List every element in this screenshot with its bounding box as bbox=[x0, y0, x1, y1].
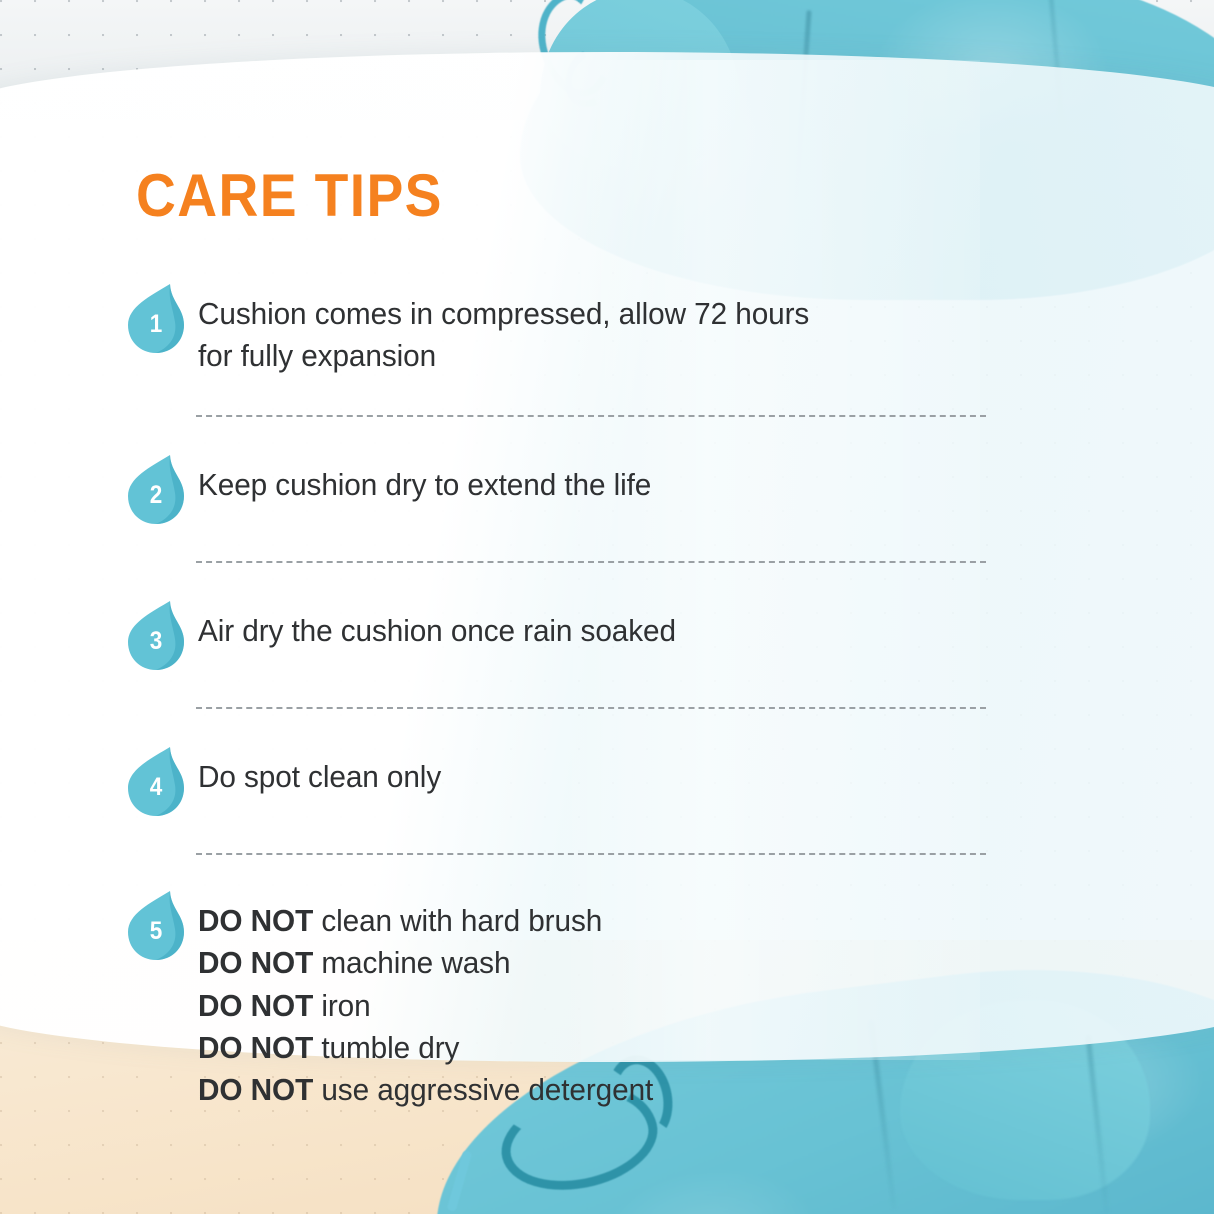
water-drop-icon: 2 bbox=[128, 453, 184, 525]
separator bbox=[196, 561, 986, 563]
tip-line: Keep cushion dry to extend the life bbox=[198, 467, 651, 502]
page-title: CARE TIPS bbox=[136, 166, 443, 226]
tip-number: 4 bbox=[131, 745, 181, 817]
care-tips-list: 1 Cushion comes in compressed, allow 72 … bbox=[128, 282, 1028, 1111]
tip-emphasis: DO NOT bbox=[198, 988, 313, 1023]
tip-line: Air dry the cushion once rain soaked bbox=[198, 613, 676, 648]
water-drop-icon: 5 bbox=[128, 889, 184, 961]
tip-text: DO NOT clean with hard brush DO NOT mach… bbox=[198, 889, 995, 1111]
tip-line: machine wash bbox=[313, 945, 510, 980]
tip-line: Cushion comes in compressed, allow 72 ho… bbox=[198, 296, 809, 331]
tip-number: 1 bbox=[131, 282, 181, 354]
tip-line: use aggressive detergent bbox=[313, 1072, 653, 1107]
tip-line: for fully expansion bbox=[198, 338, 436, 373]
list-item: 3 Air dry the cushion once rain soaked bbox=[128, 599, 1028, 671]
tip-emphasis: DO NOT bbox=[198, 1030, 313, 1065]
tip-line: clean with hard brush bbox=[313, 903, 602, 938]
list-item: 4 Do spot clean only bbox=[128, 745, 1028, 817]
tip-number: 2 bbox=[131, 453, 181, 525]
tip-line: tumble dry bbox=[313, 1030, 459, 1065]
tip-emphasis: DO NOT bbox=[198, 945, 313, 980]
water-drop-icon: 1 bbox=[128, 282, 184, 354]
separator bbox=[196, 853, 986, 855]
separator bbox=[196, 415, 986, 417]
care-tips-infographic: CARE TIPS 1 Cushion comes in compressed,… bbox=[0, 0, 1214, 1214]
content-layer: CARE TIPS 1 Cushion comes in compressed,… bbox=[0, 0, 1214, 1214]
water-drop-icon: 3 bbox=[128, 599, 184, 671]
separator bbox=[196, 707, 986, 709]
tip-text: Do spot clean only bbox=[198, 745, 995, 798]
list-item: 5 DO NOT clean with hard brush DO NOT ma… bbox=[128, 889, 1028, 1111]
tip-number: 5 bbox=[131, 889, 181, 961]
tip-text: Air dry the cushion once rain soaked bbox=[198, 599, 995, 652]
tip-emphasis: DO NOT bbox=[198, 1072, 313, 1107]
tip-line: Do spot clean only bbox=[198, 759, 441, 794]
tip-text: Cushion comes in compressed, allow 72 ho… bbox=[198, 282, 995, 377]
tip-line: iron bbox=[313, 988, 370, 1023]
tip-text: Keep cushion dry to extend the life bbox=[198, 453, 995, 506]
water-drop-icon: 4 bbox=[128, 745, 184, 817]
tip-emphasis: DO NOT bbox=[198, 903, 313, 938]
tip-number: 3 bbox=[131, 599, 181, 671]
list-item: 2 Keep cushion dry to extend the life bbox=[128, 453, 1028, 525]
list-item: 1 Cushion comes in compressed, allow 72 … bbox=[128, 282, 1028, 377]
